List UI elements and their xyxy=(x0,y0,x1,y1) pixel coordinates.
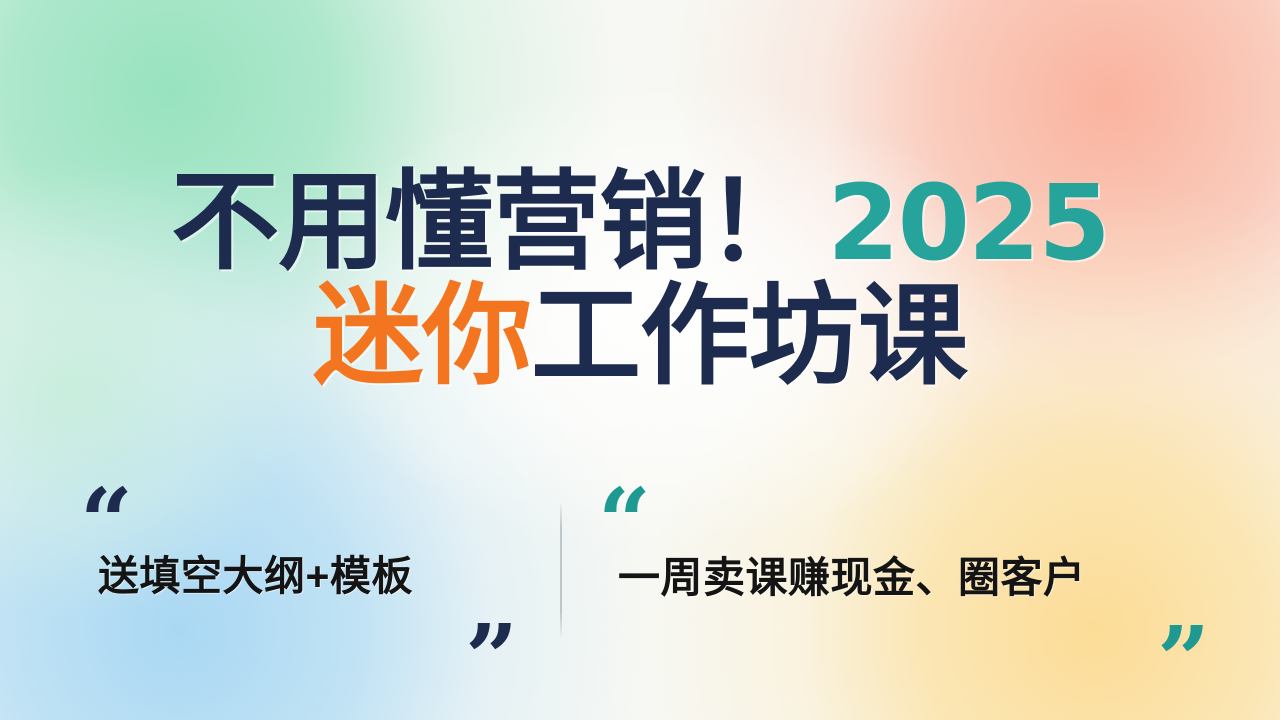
taglines-row: “ 送填空大纲+模板 ” “ 一周卖课赚现金、圈客户 ” xyxy=(0,492,1280,662)
tagline-left: “ 送填空大纲+模板 ” xyxy=(62,492,532,662)
headline-segment-main-claim: 不用懂营销！ xyxy=(171,168,813,276)
headline-segment-mini: 迷你 xyxy=(313,282,531,392)
quote-close-icon: ” xyxy=(465,612,518,704)
promo-poster: 不用懂营销！2025 迷你工作坊课 “ 送填空大纲+模板 ” “ 一周卖课赚现金… xyxy=(0,0,1280,720)
headline-line-1: 不用懂营销！2025 xyxy=(0,168,1280,276)
headline-line-2: 迷你工作坊课 xyxy=(0,282,1280,392)
quote-close-icon: ” xyxy=(1157,614,1210,706)
headline-segment-year: 2025 xyxy=(813,171,1108,275)
tagline-right: “ 一周卖课赚现金、圈客户 ” xyxy=(588,492,1218,662)
headline-segment-workshop-course: 工作坊课 xyxy=(531,282,967,392)
tagline-divider xyxy=(560,504,562,636)
tagline-right-text: 一周卖课赚现金、圈客户 xyxy=(618,544,1086,605)
headline-block: 不用懂营销！2025 迷你工作坊课 xyxy=(0,168,1280,392)
tagline-left-text: 送填空大纲+模板 xyxy=(98,542,413,602)
